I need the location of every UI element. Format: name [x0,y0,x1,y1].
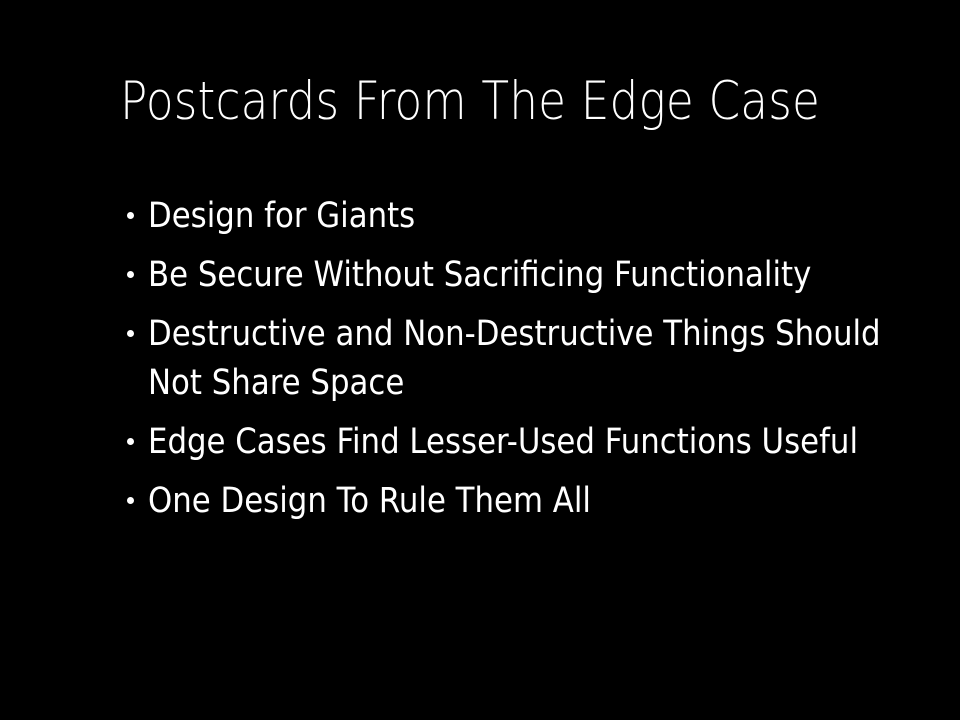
list-item-label: One Design To Rule Them All [148,477,910,526]
bullet-point-icon [127,438,134,445]
list-item-label: Be Secure Without Sacrificing Functional… [148,251,910,300]
list-item-label: Edge Cases Find Lesser-Used Functions Us… [148,418,910,467]
page-title: Postcards From The Edge Case [120,70,770,134]
list-item-label: Destructive and Non-Destructive Things S… [148,310,910,408]
bullet-point-icon [127,330,134,337]
presentation-slide: Postcards From The Edge Case Design for … [0,0,960,720]
list-item[interactable]: Be Secure Without Sacrificing Functional… [120,251,910,300]
bullet-point-icon [127,271,134,278]
list-item[interactable]: Design for Giants [120,192,910,241]
list-item[interactable]: Edge Cases Find Lesser-Used Functions Us… [120,418,910,467]
list-item[interactable]: One Design To Rule Them All [120,477,910,526]
list-item[interactable]: Destructive and Non-Destructive Things S… [120,310,910,408]
bullet-point-icon [127,212,134,219]
bullet-point-icon [127,497,134,504]
bullet-list: Design for Giants Be Secure Without Sacr… [120,192,910,526]
list-item-label: Design for Giants [148,192,910,241]
